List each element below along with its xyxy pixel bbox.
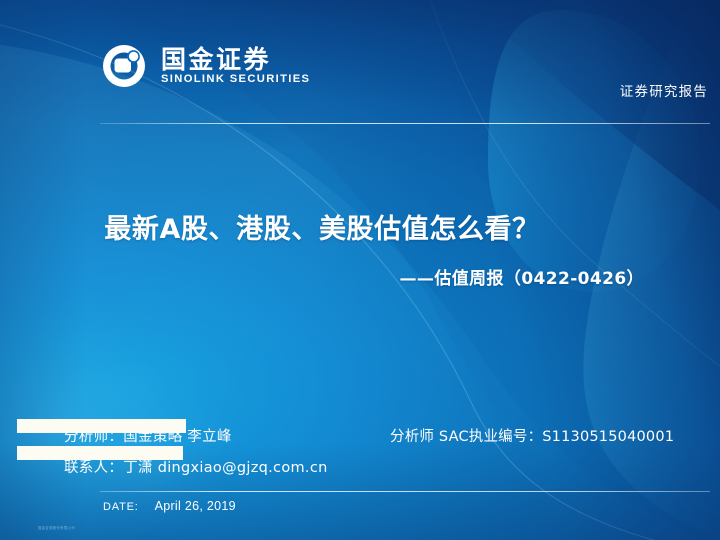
analyst-sac-license: 分析师 SAC执业编号：S1130515040001	[390, 425, 674, 446]
brand-name-cn: 国金证券	[161, 47, 310, 74]
report-cover-slide: 国金证券 SINOLINK SECURITIES 证券研究报告 最新A股、港股、…	[0, 0, 720, 540]
brand-name-en: SINOLINK SECURITIES	[161, 74, 310, 85]
date-row: DATE: April 26, 2019	[103, 499, 236, 513]
divider-bottom	[100, 491, 710, 492]
page-title: 最新A股、港股、美股估值怎么看？	[0, 214, 720, 246]
sinolink-ring-logo-icon	[100, 42, 148, 90]
brand-logo: 国金证券 SINOLINK SECURITIES	[100, 42, 310, 90]
redaction-bar-2	[17, 446, 183, 460]
page-subtitle: ——估值周报（0422-0426）	[400, 264, 644, 289]
redaction-bar-1	[17, 419, 186, 433]
report-kicker: 证券研究报告	[620, 80, 708, 100]
micro-footer-text: 国金证券股份有限公司	[38, 525, 75, 530]
brand-wordmark: 国金证券 SINOLINK SECURITIES	[161, 47, 310, 86]
date-label: DATE:	[103, 501, 139, 513]
date-value: April 26, 2019	[155, 499, 236, 513]
divider-top	[100, 123, 710, 124]
